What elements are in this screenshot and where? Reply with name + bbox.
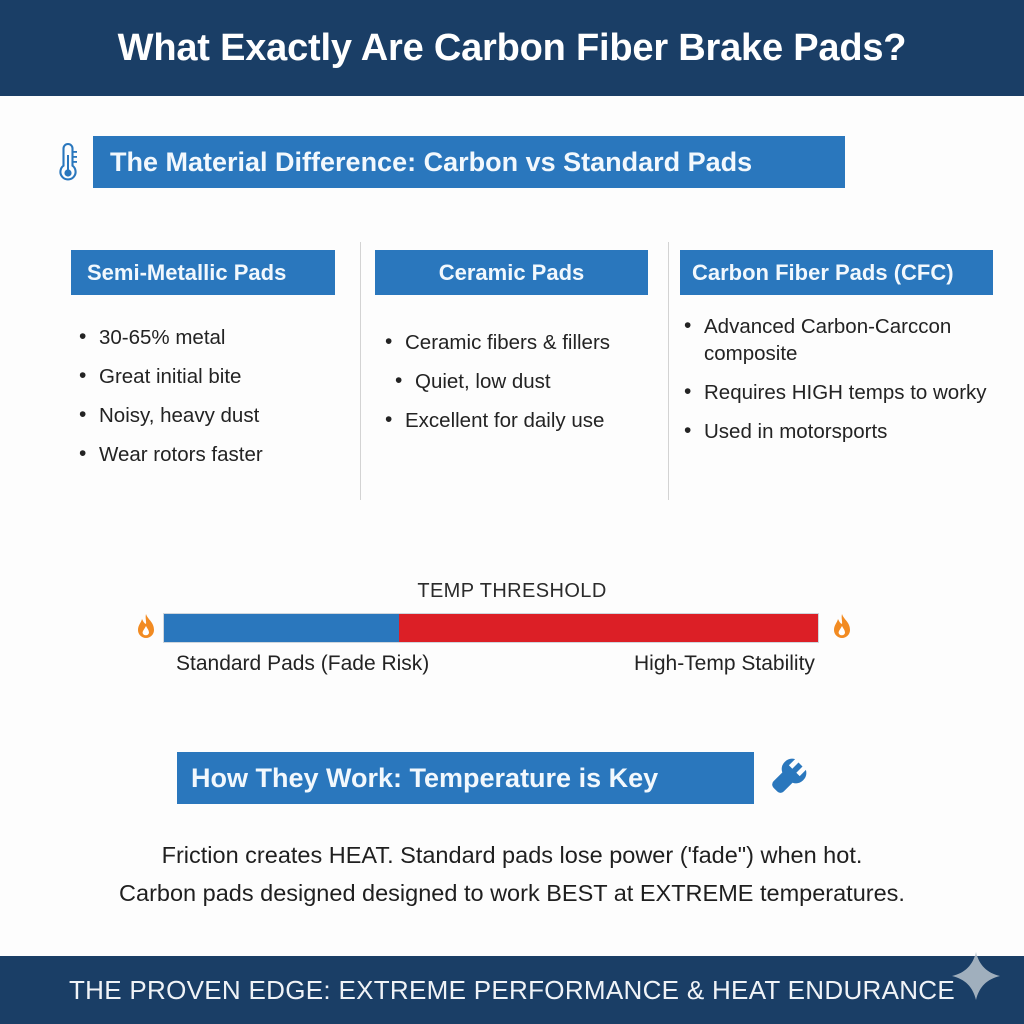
flame-icon	[826, 608, 858, 648]
column-carbon-fiber: Carbon Fiber Pads (CFC) Advanced Carbon-…	[680, 250, 993, 457]
wrench-icon	[762, 752, 812, 804]
flame-icon	[130, 608, 162, 648]
page-title: What Exactly Are Carbon Fiber Brake Pads…	[0, 0, 1024, 96]
temp-bar-cold-segment	[164, 614, 399, 642]
list-item: Noisy, heavy dust	[77, 402, 335, 429]
list-item: Quiet, low dust	[383, 368, 648, 395]
column-divider	[360, 242, 361, 500]
list-item: 30-65% metal	[77, 324, 335, 351]
list-item: Used in motorsports	[682, 418, 993, 445]
temp-threshold-label: TEMP THRESHOLD	[0, 580, 1024, 603]
infographic-page: What Exactly Are Carbon Fiber Brake Pads…	[0, 0, 1024, 1024]
column-bullet-list: Ceramic fibers & fillers Quiet, low dust…	[383, 329, 648, 434]
temp-hot-caption: High-Temp Stability	[634, 652, 815, 676]
column-divider	[668, 242, 669, 500]
column-heading: Carbon Fiber Pads (CFC)	[680, 250, 993, 295]
thermometer-icon	[50, 136, 86, 188]
column-semi-metallic: Semi-Metallic Pads 30-65% metal Great in…	[71, 250, 335, 480]
paragraph-line: Carbon pads designed designed to work BE…	[0, 874, 1024, 912]
temperature-scale-bar	[163, 613, 819, 643]
body-area	[0, 96, 1024, 956]
column-heading: Ceramic Pads	[375, 250, 648, 295]
column-ceramic: Ceramic Pads Ceramic fibers & fillers Qu…	[375, 250, 648, 446]
column-heading: Semi-Metallic Pads	[71, 250, 335, 295]
list-item: Great initial bite	[77, 363, 335, 390]
how-section-banner: How They Work: Temperature is Key	[177, 752, 754, 804]
how-section-paragraph: Friction creates HEAT. Standard pads los…	[0, 836, 1024, 912]
list-item: Advanced Carbon-Carccon composite	[682, 313, 993, 367]
material-section-title: The Material Difference: Carbon vs Stand…	[110, 147, 752, 178]
list-item: Requires HIGH temps to worky	[682, 379, 993, 406]
column-bullet-list: Advanced Carbon-Carccon composite Requir…	[682, 313, 993, 445]
how-section-title: How They Work: Temperature is Key	[191, 763, 658, 794]
column-bullet-list: 30-65% metal Great initial bite Noisy, h…	[77, 324, 335, 468]
list-item: Ceramic fibers & fillers	[383, 329, 648, 356]
list-item: Wear rotors faster	[77, 441, 335, 468]
list-item: Excellent for daily use	[383, 407, 648, 434]
paragraph-line: Friction creates HEAT. Standard pads los…	[0, 836, 1024, 874]
material-section-banner: The Material Difference: Carbon vs Stand…	[93, 136, 845, 188]
temp-cold-caption: Standard Pads (Fade Risk)	[176, 652, 429, 676]
footer-text: THE PROVEN EDGE: EXTREME PERFORMANCE & H…	[0, 956, 1024, 1024]
temp-bar-hot-segment	[399, 614, 818, 642]
